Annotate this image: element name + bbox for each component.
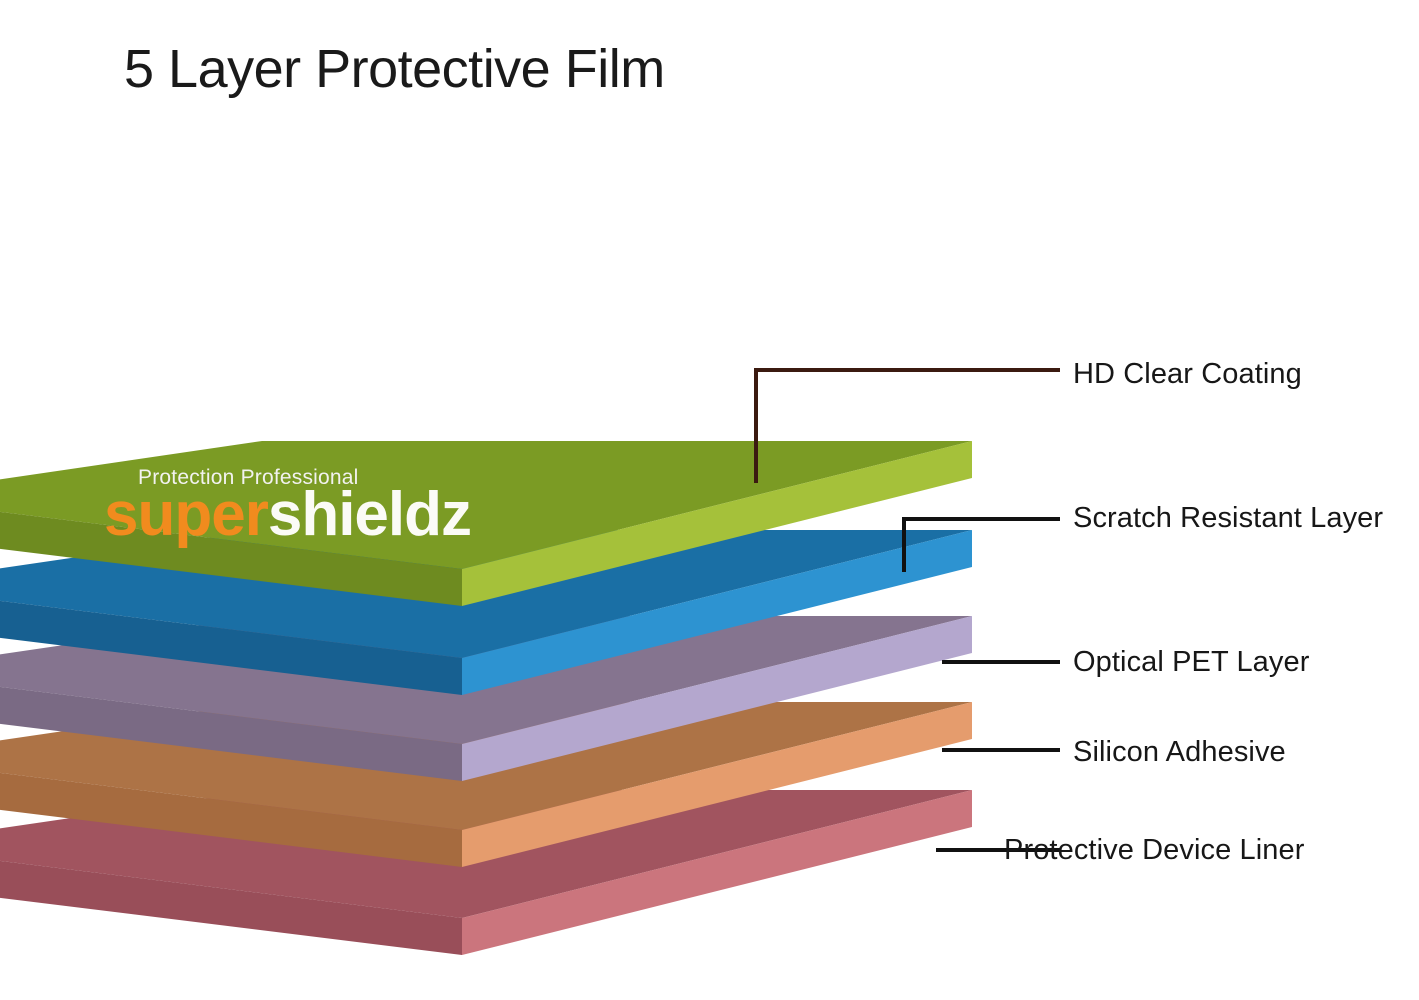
logo-wordmark-shieldz: shieldz	[268, 480, 471, 549]
callout-label-optical-pet-layer: Optical PET Layer	[1073, 646, 1310, 679]
callout-label-protective-device-liner: Protective Device Liner	[1004, 834, 1304, 867]
logo-wordmark-super: super	[104, 480, 268, 549]
supershieldz-logo: Protection Professional supershieldz	[104, 466, 584, 566]
callout-label-hd-clear-coating: HD Clear Coating	[1073, 358, 1302, 391]
logo-wordmark: supershieldz	[104, 484, 471, 546]
callout-label-scratch-resistant-layer: Scratch Resistant Layer	[1073, 502, 1383, 535]
diagram-canvas: 5 Layer Protective Film	[0, 0, 1419, 1000]
callout-label-silicon-adhesive: Silicon Adhesive	[1073, 736, 1286, 769]
